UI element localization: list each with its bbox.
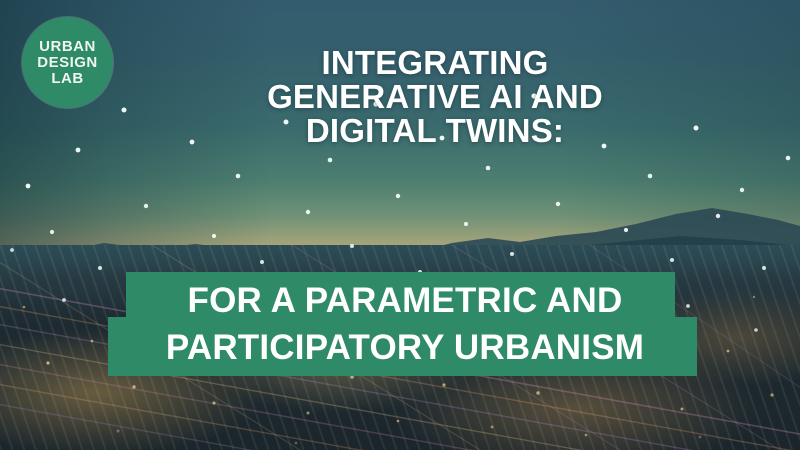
subtitle-line-1: FOR A PARAMETRIC AND xyxy=(100,283,710,318)
logo-line-1: URBAN xyxy=(39,39,96,54)
title-line-2: GENERATIVE AI AND xyxy=(130,80,740,114)
subtitle-line-2: PARTICIPATORY URBANISM xyxy=(100,330,710,365)
title-line-1: INTEGRATING xyxy=(130,46,740,80)
logo-line-3: LAB xyxy=(51,71,83,86)
urban-design-lab-logo[interactable]: URBAN DESIGN LAB xyxy=(22,17,113,108)
logo-line-2: DESIGN xyxy=(37,55,98,70)
title-card: URBAN DESIGN LAB INTEGRATING GENERATIVE … xyxy=(0,0,800,450)
page-title: INTEGRATING GENERATIVE AI AND DIGITAL TW… xyxy=(130,46,740,148)
title-line-3: DIGITAL TWINS: xyxy=(130,114,740,148)
